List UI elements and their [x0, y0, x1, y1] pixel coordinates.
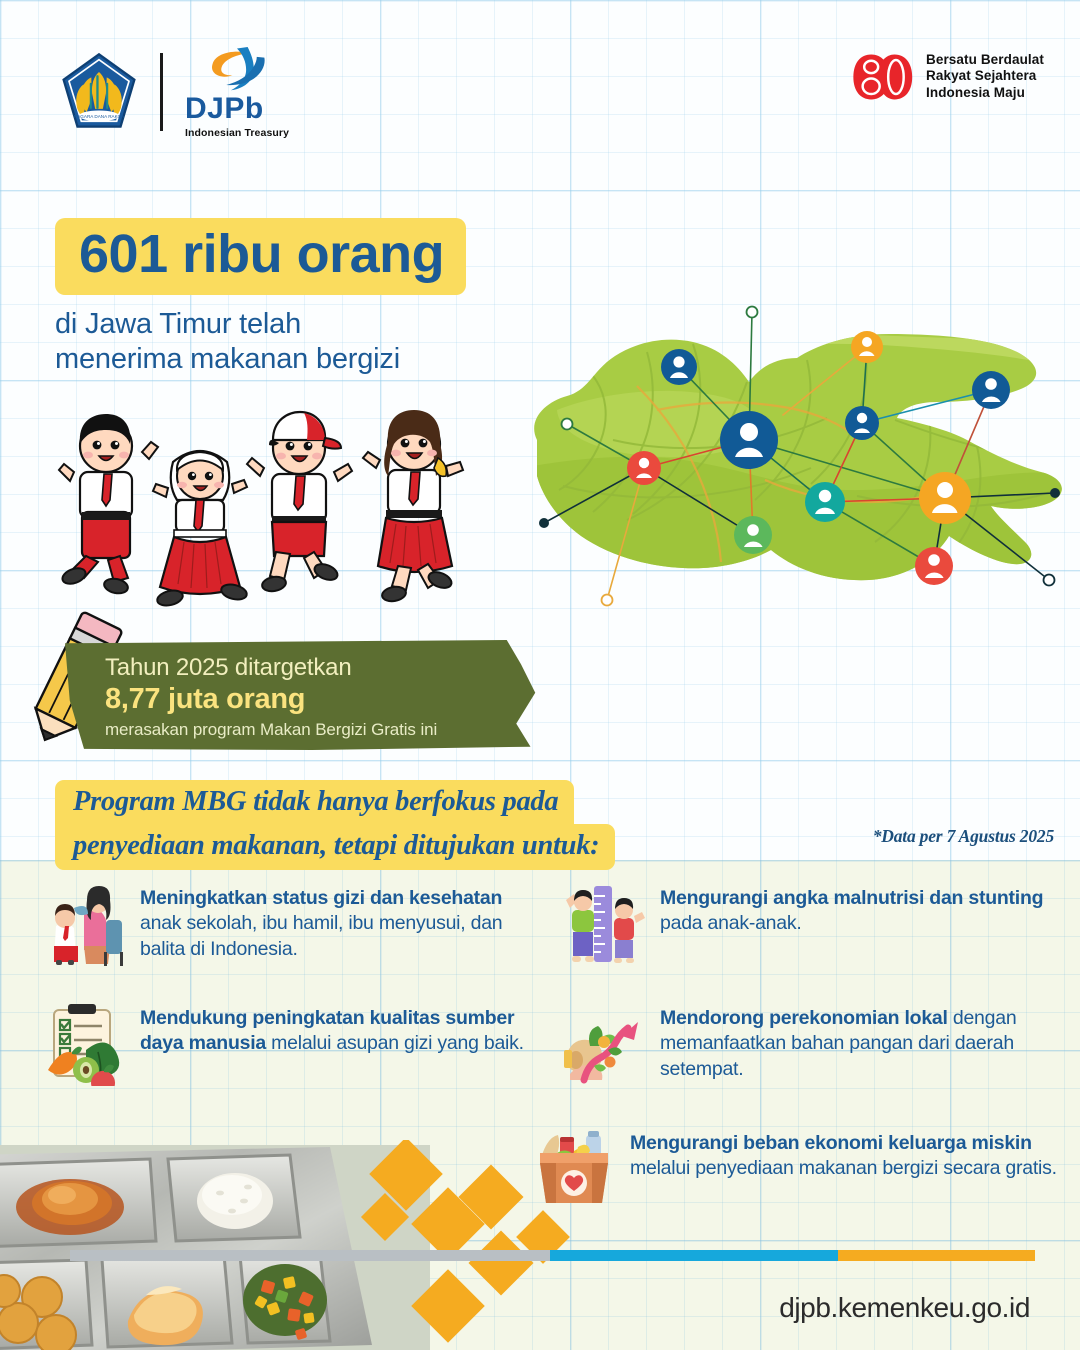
- benefit-text-4: Mendorong perekonomian lokal dengan mema…: [660, 1000, 1070, 1082]
- footer-bar-orange: [838, 1250, 1035, 1261]
- benefit-item-1: Meningkatkan status gizi dan kesehatan a…: [40, 880, 540, 966]
- infographic-page: NAGARA DANA RAKCA DJPb Indonesian Treasu…: [0, 0, 1080, 1350]
- east-java-map: [497, 290, 1077, 630]
- program-statement: Program MBG tidak hanya berfokus pada pe…: [55, 780, 795, 870]
- mother-and-child-icon: [40, 880, 126, 966]
- school-children-illustration: [42, 400, 522, 620]
- benefit-item-4: Mendorong perekonomian lokal dengan mema…: [560, 1000, 1070, 1086]
- header: NAGARA DANA RAKCA DJPb Indonesian Treasu…: [0, 0, 1080, 150]
- pin-main-surabaya[interactable]: [720, 411, 778, 469]
- anniversary-line-2: Rakyat Sejahtera: [926, 68, 1044, 84]
- benefit-bold-1: Meningkatkan status gizi dan kesehatan: [140, 887, 502, 909]
- statement-line-2: penyediaan makanan, tetapi ditujukan unt…: [55, 824, 615, 870]
- djpb-tagline: Indonesian Treasury: [185, 127, 289, 139]
- benefit-text-1: Meningkatkan status gizi dan kesehatan a…: [140, 880, 540, 962]
- benefit-text-3: Mendukung peningkatan kualitas sumber da…: [140, 1000, 540, 1057]
- clipboard-vegetables-icon: [40, 1000, 126, 1086]
- pin-teal[interactable]: [805, 482, 845, 522]
- child-figure-2: [153, 451, 248, 608]
- svg-text:NAGARA DANA RAKCA: NAGARA DANA RAKCA: [74, 114, 125, 119]
- djpb-logo: DJPb Indonesian Treasury: [185, 45, 289, 139]
- target-banner-line-3: merasakan program Makan Bergizi Gratis i…: [105, 720, 437, 740]
- growth-chart-children-icon: [560, 880, 646, 966]
- pin-red-west[interactable]: [627, 451, 661, 485]
- benefit-item-5: Mengurangi beban ekonomi keluarga miskin…: [530, 1125, 1075, 1211]
- anniversary-line-1: Bersatu Berdaulat: [926, 52, 1044, 68]
- header-divider: [160, 53, 163, 131]
- benefit-bold-2: Mengurangi angka malnutrisi dan stunting: [660, 887, 1043, 909]
- pin-blue-east[interactable]: [845, 406, 879, 440]
- target-banner-line-2: 8,77 juta orang: [105, 683, 305, 716]
- target-banner-line-1: Tahun 2025 ditargetkan: [105, 654, 351, 682]
- benefit-rest-2: pada anak-anak.: [660, 912, 802, 934]
- benefit-rest-3: melalui asupan gizi yang baik.: [266, 1032, 524, 1054]
- footer-bar-gray: [70, 1250, 550, 1261]
- local-produce-growth-icon: [560, 1000, 646, 1086]
- pin-blue-nw[interactable]: [661, 349, 697, 385]
- website-url[interactable]: djpb.kemenkeu.go.id: [779, 1292, 1030, 1324]
- diamond-accent-shapes: [360, 1140, 590, 1350]
- pin-green-south[interactable]: [734, 516, 772, 554]
- child-figure-3: [247, 412, 352, 593]
- anniversary-logo-group: Bersatu Berdaulat Rakyat Sejahtera Indon…: [851, 52, 1044, 101]
- statement-line-1: Program MBG tidak hanya berfokus pada: [55, 780, 574, 826]
- benefit-rest-5: melalui penyediaan makanan bergizi secar…: [630, 1157, 1057, 1179]
- pin-red-southeast[interactable]: [915, 547, 953, 585]
- djpb-wordmark: DJPb: [185, 94, 264, 124]
- kemenkeu-seal-icon: NAGARA DANA RAKCA: [60, 52, 138, 132]
- footer-bar-cyan: [550, 1250, 838, 1261]
- benefit-text-5: Mengurangi beban ekonomi keluarga miskin…: [630, 1125, 1075, 1182]
- pin-blue-northeast[interactable]: [972, 371, 1010, 409]
- target-banner: Tahun 2025 ditargetkan 8,77 juta orang m…: [65, 640, 540, 750]
- anniversary-tagline: Bersatu Berdaulat Rakyat Sejahtera Indon…: [926, 52, 1044, 101]
- child-figure-4: [363, 410, 463, 603]
- hero-highlight-number: 601 ribu orang: [55, 218, 466, 295]
- benefit-item-3: Mendukung peningkatan kualitas sumber da…: [40, 1000, 540, 1086]
- anniversary-line-3: Indonesia Maju: [926, 85, 1044, 101]
- child-figure-1: [59, 414, 158, 595]
- map-landmass: [527, 330, 1077, 590]
- benefit-bold-4: Mendorong perekonomian lokal: [660, 1007, 948, 1029]
- pin-orange-madura[interactable]: [851, 331, 883, 363]
- benefit-text-2: Mengurangi angka malnutrisi dan stunting…: [660, 880, 1070, 937]
- data-date-note: *Data per 7 Agustus 2025: [873, 826, 1054, 847]
- benefit-rest-1: anak sekolah, ibu hamil, ibu menyusui, d…: [140, 912, 502, 959]
- djpb-swoosh-icon: [199, 45, 275, 93]
- benefit-bold-5: Mengurangi beban ekonomi keluarga miskin: [630, 1132, 1032, 1154]
- benefit-item-2: Mengurangi angka malnutrisi dan stunting…: [560, 880, 1070, 966]
- eighty-anniversary-icon: [851, 53, 913, 101]
- logo-group-left: NAGARA DANA RAKCA DJPb Indonesian Treasu…: [60, 45, 289, 139]
- pin-orange-east[interactable]: [919, 472, 971, 524]
